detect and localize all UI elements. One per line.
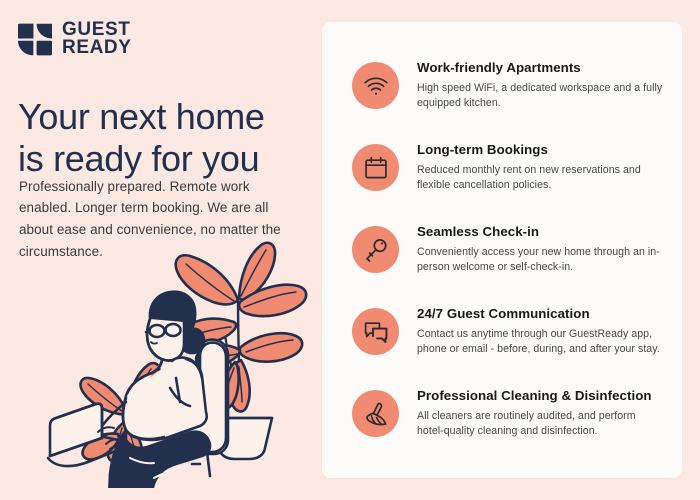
feature-title: Seamless Check-in	[417, 224, 664, 241]
feature-title: Work-friendly Apartments	[417, 60, 664, 77]
feature-item-seamless-check-in[interactable]: Seamless Check-in Conveniently access yo…	[352, 224, 664, 275]
feature-description: All cleaners are routinely audited, and …	[417, 409, 664, 439]
feature-item-long-term-bookings[interactable]: Long-term Bookings Reduced monthly rent …	[352, 142, 664, 193]
feature-icon-badge	[352, 390, 399, 437]
feature-title: Long-term Bookings	[417, 142, 664, 159]
promo-banner: GUEST READY Your next home is ready for …	[0, 0, 700, 500]
brand-logo[interactable]: GUEST READY	[17, 21, 132, 58]
feature-text: Long-term Bookings Reduced monthly rent …	[399, 142, 664, 193]
feature-title: Professional Cleaning & Disinfection	[417, 388, 664, 405]
guestready-logo-mark-icon	[17, 23, 53, 56]
broom-icon	[363, 401, 389, 427]
feature-item-work-friendly-apartments[interactable]: Work-friendly Apartments High speed WiFi…	[352, 60, 664, 111]
feature-description: High speed WiFi, a dedicated workspace a…	[417, 81, 664, 111]
hero-headline: Your next home is ready for you	[18, 96, 308, 180]
brand-wordmark: GUEST READY	[62, 21, 132, 58]
feature-icon-badge	[352, 308, 399, 355]
hero-column: GUEST READY Your next home is ready for …	[0, 0, 318, 500]
feature-title: 24/7 Guest Communication	[417, 306, 664, 323]
woman-with-laptop-illustration-icon	[34, 226, 312, 488]
feature-text: Work-friendly Apartments High speed WiFi…	[399, 60, 664, 111]
hero-headline-line2: is ready for you	[18, 138, 308, 180]
hero-illustration	[34, 226, 312, 488]
feature-icon-badge	[352, 226, 399, 273]
feature-item-guest-communication[interactable]: 24/7 Guest Communication Contact us anyt…	[352, 306, 664, 357]
calendar-icon	[363, 155, 389, 181]
feature-description: Conveniently access your new home throug…	[417, 245, 664, 275]
feature-text: 24/7 Guest Communication Contact us anyt…	[399, 306, 664, 357]
feature-text: Professional Cleaning & Disinfection All…	[399, 388, 664, 439]
features-panel: Work-friendly Apartments High speed WiFi…	[322, 22, 682, 478]
feature-description: Reduced monthly rent on new reservations…	[417, 163, 664, 193]
feature-icon-badge	[352, 62, 399, 109]
key-icon	[363, 237, 389, 263]
hero-headline-line1: Your next home	[18, 96, 265, 137]
wifi-icon	[363, 73, 389, 99]
brand-name-line2: READY	[62, 39, 132, 57]
chat-bubbles-icon	[363, 319, 389, 345]
feature-item-professional-cleaning[interactable]: Professional Cleaning & Disinfection All…	[352, 388, 664, 439]
feature-icon-badge	[352, 144, 399, 191]
feature-description: Contact us anytime through our GuestRead…	[417, 327, 664, 357]
feature-text: Seamless Check-in Conveniently access yo…	[399, 224, 664, 275]
